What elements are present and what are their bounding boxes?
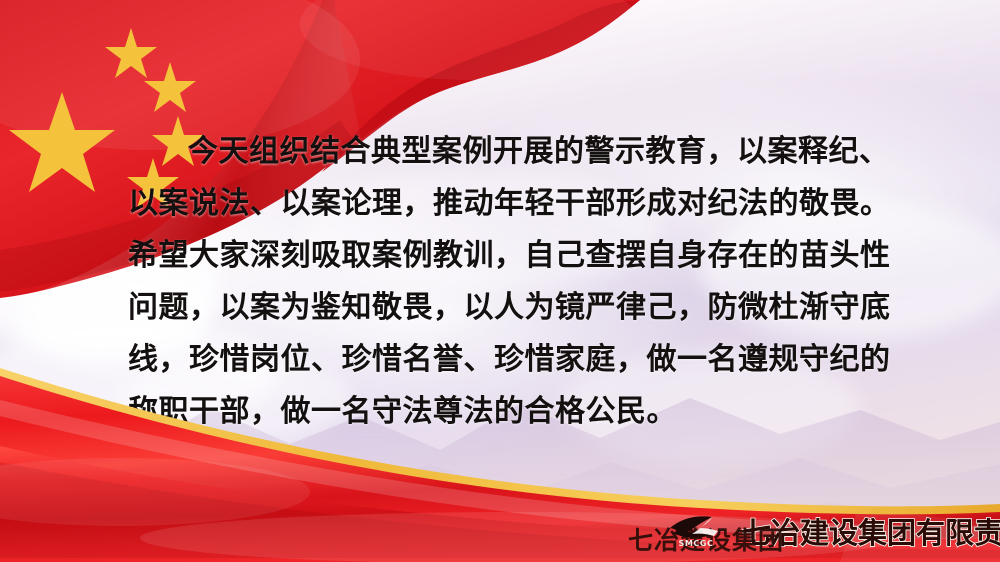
company-abbreviation: SMCGC (668, 539, 724, 548)
speech-line: 问题，以案为鉴知敬畏，以人为镜严律己，防微杜渐守底 (128, 282, 876, 334)
speech-line: 今天组织结合典型案例开展的警示教育，以案释纪、 (128, 126, 876, 178)
speech-line: 希望大家深刻吸取案例教训，自己查摆自身存在的苗头性 (128, 230, 876, 282)
poster-canvas: 今天组织结合典型案例开展的警示教育，以案释纪、 以案说法、以案论理，推动年轻干部… (0, 0, 1000, 562)
brand-row: 七冶建设集团 SMCGC 七冶建设集团有限责任公司 (628, 510, 1000, 556)
company-logo: 七冶建设集团 SMCGC (628, 513, 784, 553)
speech-line: 以案说法、以案论理，推动年轻干部形成对纪法的敬畏。 (128, 178, 876, 230)
